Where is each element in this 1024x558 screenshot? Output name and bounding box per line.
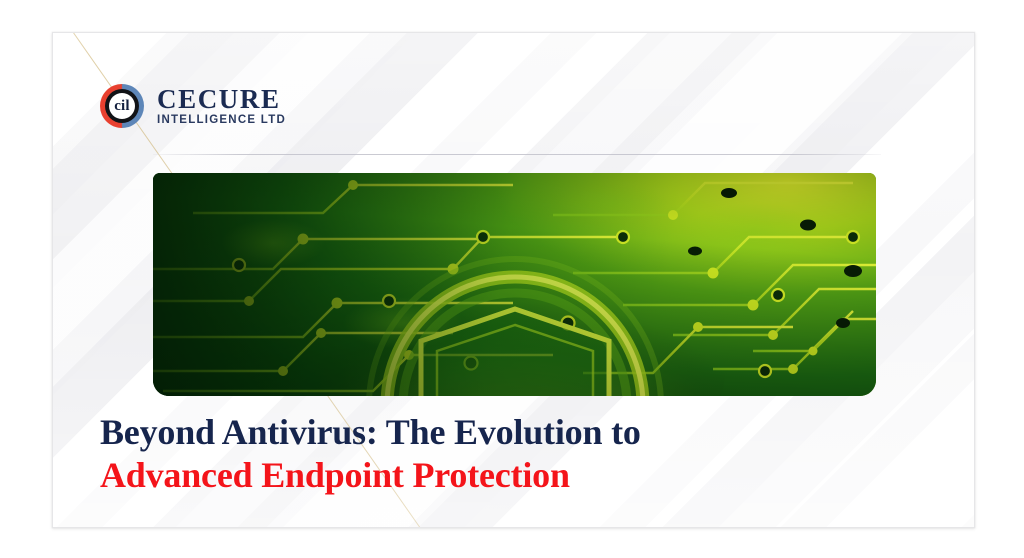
slide-canvas: cil CECURE INTELLIGENCE LTD	[0, 0, 1024, 558]
logo-mark-icon: cil	[100, 84, 144, 128]
brand-name: CECURE	[157, 86, 286, 113]
header-divider	[153, 154, 881, 155]
headline-line-1: Beyond Antivirus: The Evolution to	[100, 411, 930, 454]
brand-wordmark: CECURE INTELLIGENCE LTD	[157, 86, 286, 127]
hero-image	[153, 173, 876, 396]
logo-monogram: cil	[114, 99, 130, 114]
gold-accent-line-right	[958, 32, 975, 528]
blog-title-card: cil CECURE INTELLIGENCE LTD	[52, 32, 975, 528]
brand-subtitle: INTELLIGENCE LTD	[157, 115, 286, 127]
logo-ring-core: cil	[109, 93, 135, 119]
brand-logo[interactable]: cil CECURE INTELLIGENCE LTD	[100, 84, 286, 128]
headline-line-2: Advanced Endpoint Protection	[100, 454, 930, 497]
hero-image-shading	[153, 173, 876, 396]
page-title: Beyond Antivirus: The Evolution to Advan…	[100, 411, 930, 497]
